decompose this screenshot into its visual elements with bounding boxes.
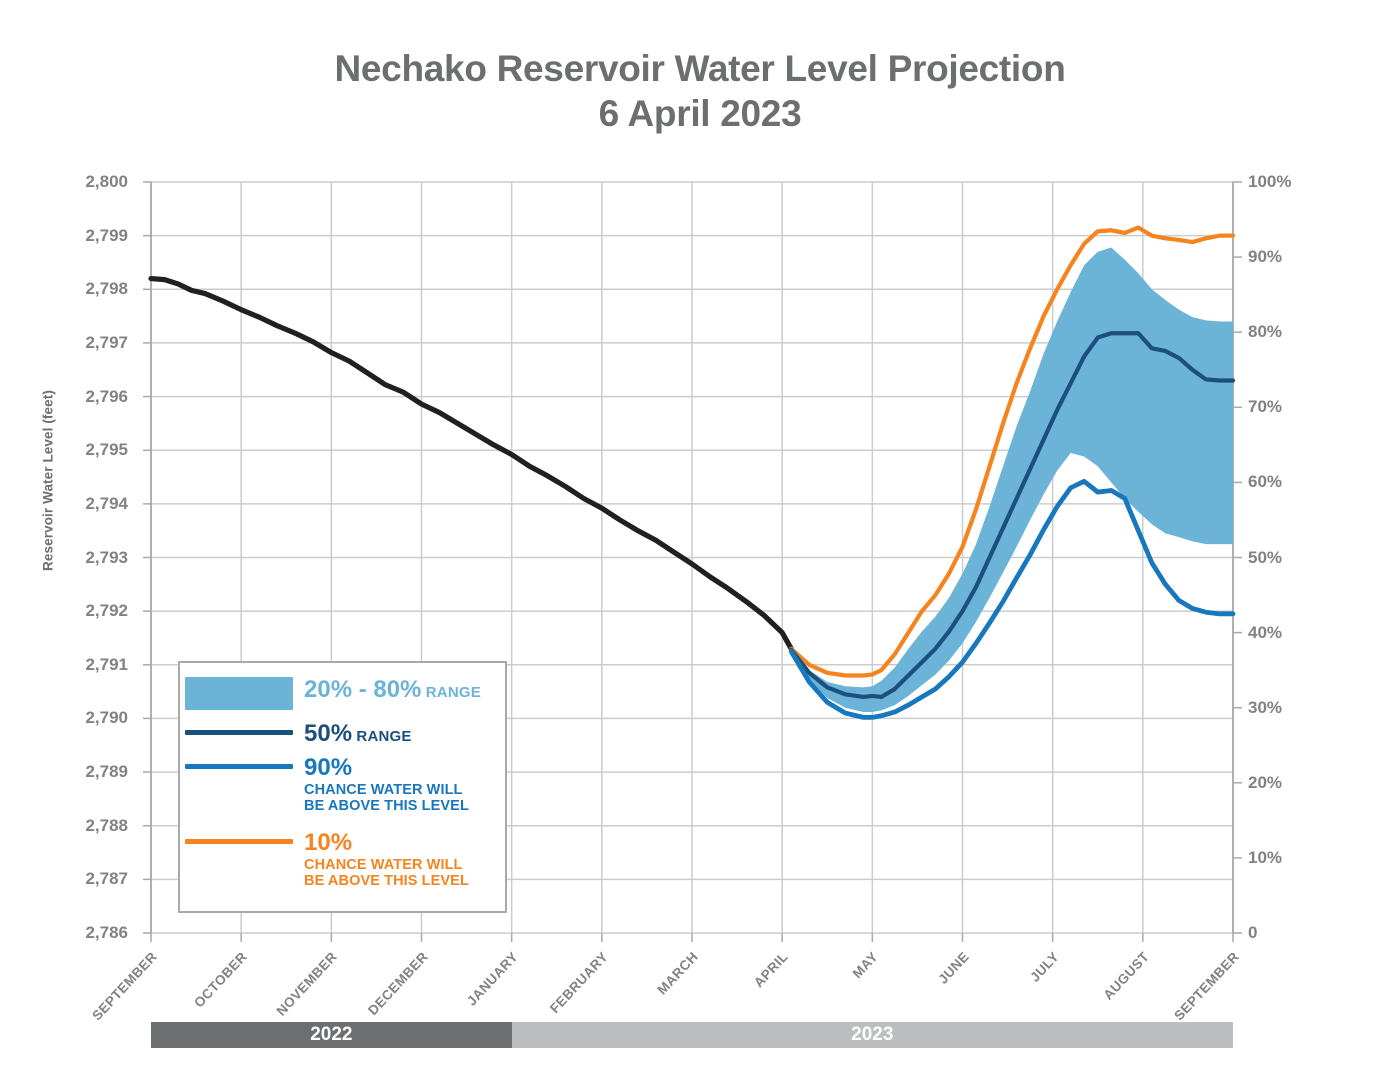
year-bar-label: 2023 [851, 1024, 893, 1046]
legend-label-band: 20% - 80% RANGE [298, 677, 481, 710]
year-bar-segment-2023: 2023 [512, 1022, 1233, 1048]
year-bar: 20222023 [151, 1022, 1233, 1048]
chart-page: Nechako Reservoir Water Level Projection… [0, 0, 1400, 1082]
legend-label-p90: 90%CHANCE WATER WILLBE ABOVE THIS LEVEL [298, 755, 469, 814]
legend-item-p90: 90%CHANCE WATER WILLBE ABOVE THIS LEVEL [180, 755, 505, 814]
legend-secondary-text: RANGE [352, 728, 412, 745]
year-bar-segment-2022: 2022 [151, 1022, 512, 1048]
legend-swatch-band [180, 677, 298, 710]
legend-label-median: 50% RANGE [298, 721, 412, 749]
legend-item-p10: 10%CHANCE WATER WILLBE ABOVE THIS LEVEL [180, 830, 505, 889]
legend-description-line: BE ABOVE THIS LEVEL [304, 873, 469, 889]
legend-description-line: CHANCE WATER WILL [304, 782, 469, 798]
legend-primary-text: 10% [304, 829, 352, 856]
legend-swatch-p10 [180, 830, 298, 889]
legend-label-p10: 10%CHANCE WATER WILLBE ABOVE THIS LEVEL [298, 830, 469, 889]
legend-color-box [185, 677, 293, 710]
legend-primary-text: 50% [304, 720, 352, 747]
legend-description-line: CHANCE WATER WILL [304, 857, 469, 873]
legend-swatch-p90 [180, 755, 298, 814]
legend-item-median: 50% RANGE [180, 721, 505, 749]
legend-color-line [185, 730, 293, 735]
chart-plot [0, 0, 1400, 1082]
legend-color-line [185, 764, 293, 769]
legend-secondary-text: RANGE [421, 684, 481, 701]
year-bar-label: 2022 [310, 1024, 352, 1046]
legend-primary-text: 90% [304, 754, 352, 781]
legend-primary-text: 20% - 80% [304, 676, 421, 703]
legend-item-band: 20% - 80% RANGE [180, 677, 505, 710]
legend-description-line: BE ABOVE THIS LEVEL [304, 798, 469, 814]
legend-swatch-median [180, 721, 298, 749]
series-band-20-80 [791, 247, 1233, 712]
series-historical [151, 279, 791, 649]
legend-color-line [185, 839, 293, 844]
chart-legend: 20% - 80% RANGE50% RANGE90%CHANCE WATER … [178, 661, 507, 913]
